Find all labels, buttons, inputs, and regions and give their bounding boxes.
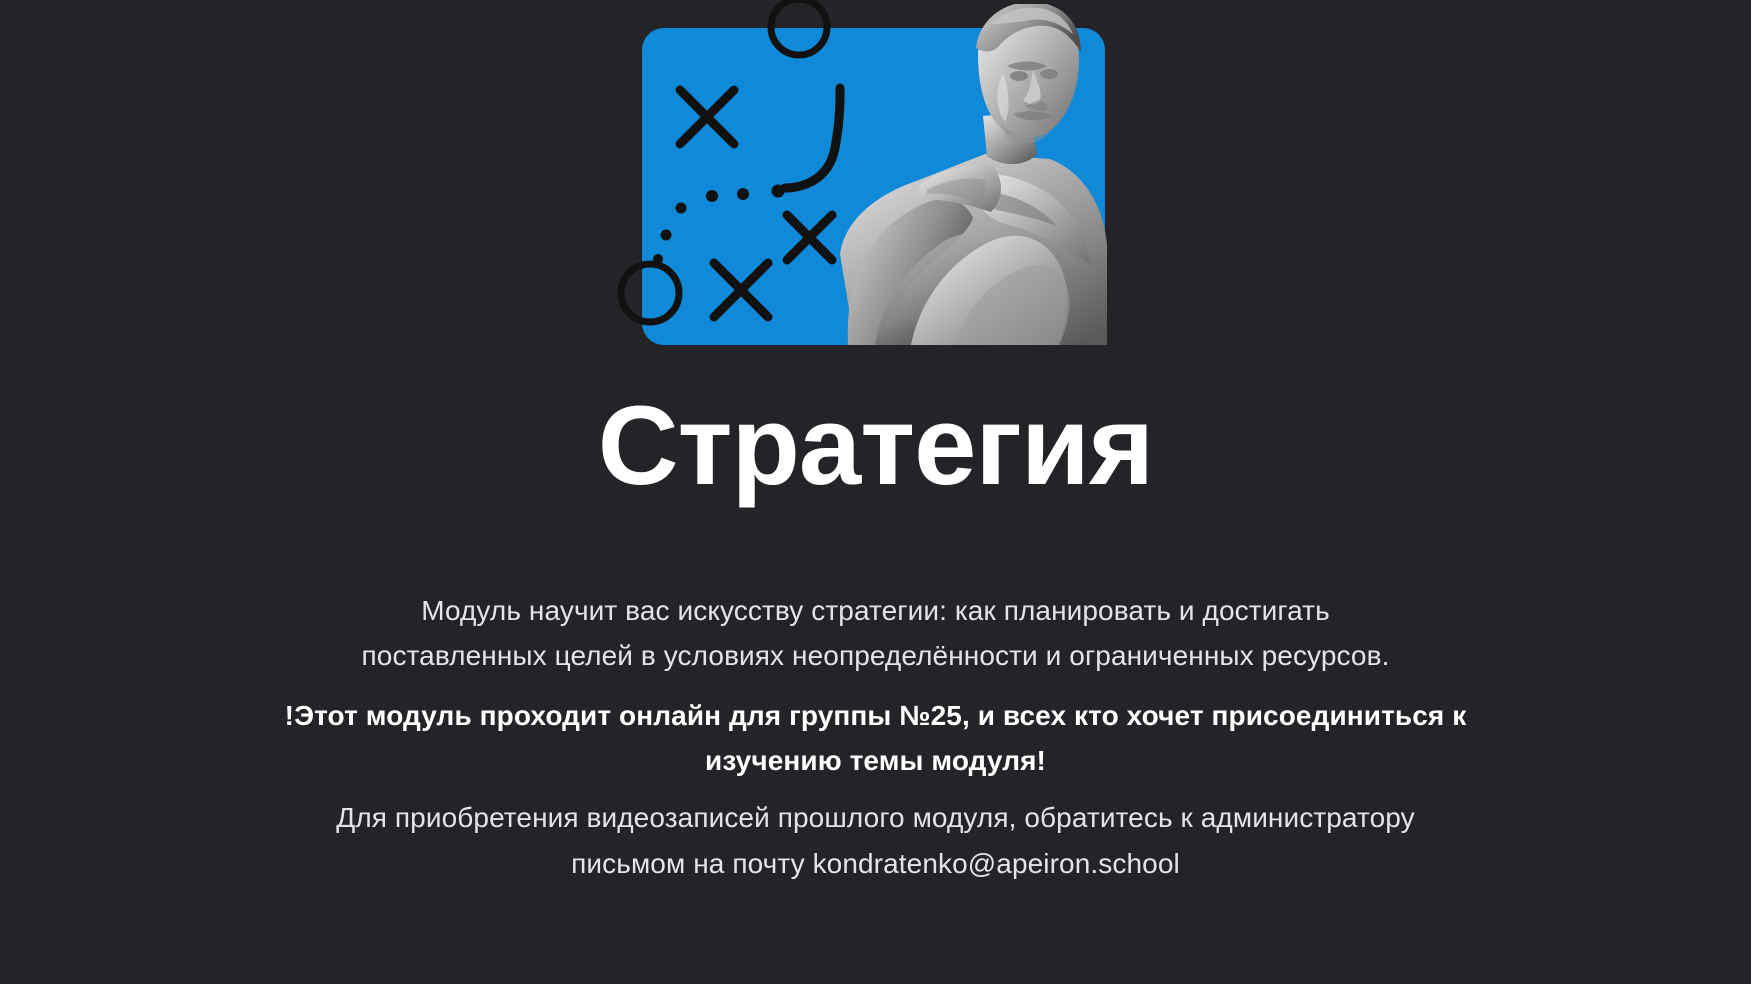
- cross-marker-bottom: [714, 263, 768, 317]
- hero-illustration: [0, 0, 1751, 360]
- outro-prefix: письмом на почту: [571, 848, 812, 879]
- dotted-path: [653, 185, 785, 265]
- outro-paragraph: Для приобретения видеозаписей прошлого м…: [216, 795, 1536, 886]
- module-description: Модуль научит вас искусству стратегии: к…: [216, 502, 1536, 886]
- cross-marker-upper-left: [680, 90, 734, 144]
- page-title: Стратегия: [598, 360, 1153, 502]
- module-landing-page: Стратегия Модуль научит вас искусству ст…: [0, 0, 1751, 984]
- circle-marker-bottom-left: [621, 264, 679, 322]
- notice-paragraph: !Этот модуль проходит онлайн для группы …: [216, 693, 1536, 784]
- notice-line-2: изучению темы модуля!: [705, 745, 1046, 776]
- outro-line-1: Для приобретения видеозаписей прошлого м…: [336, 802, 1414, 833]
- notice-line-1: !Этот модуль проходит онлайн для группы …: [285, 700, 1467, 731]
- caesar-statue-image: [815, 4, 1107, 345]
- admin-email[interactable]: kondratenko@apeiron.school: [813, 848, 1180, 879]
- intro-line-1: Модуль научит вас искусству стратегии: к…: [421, 595, 1330, 626]
- intro-line-2: поставленных целей в условиях неопределё…: [362, 640, 1390, 671]
- intro-paragraph: Модуль научит вас искусству стратегии: к…: [216, 588, 1536, 679]
